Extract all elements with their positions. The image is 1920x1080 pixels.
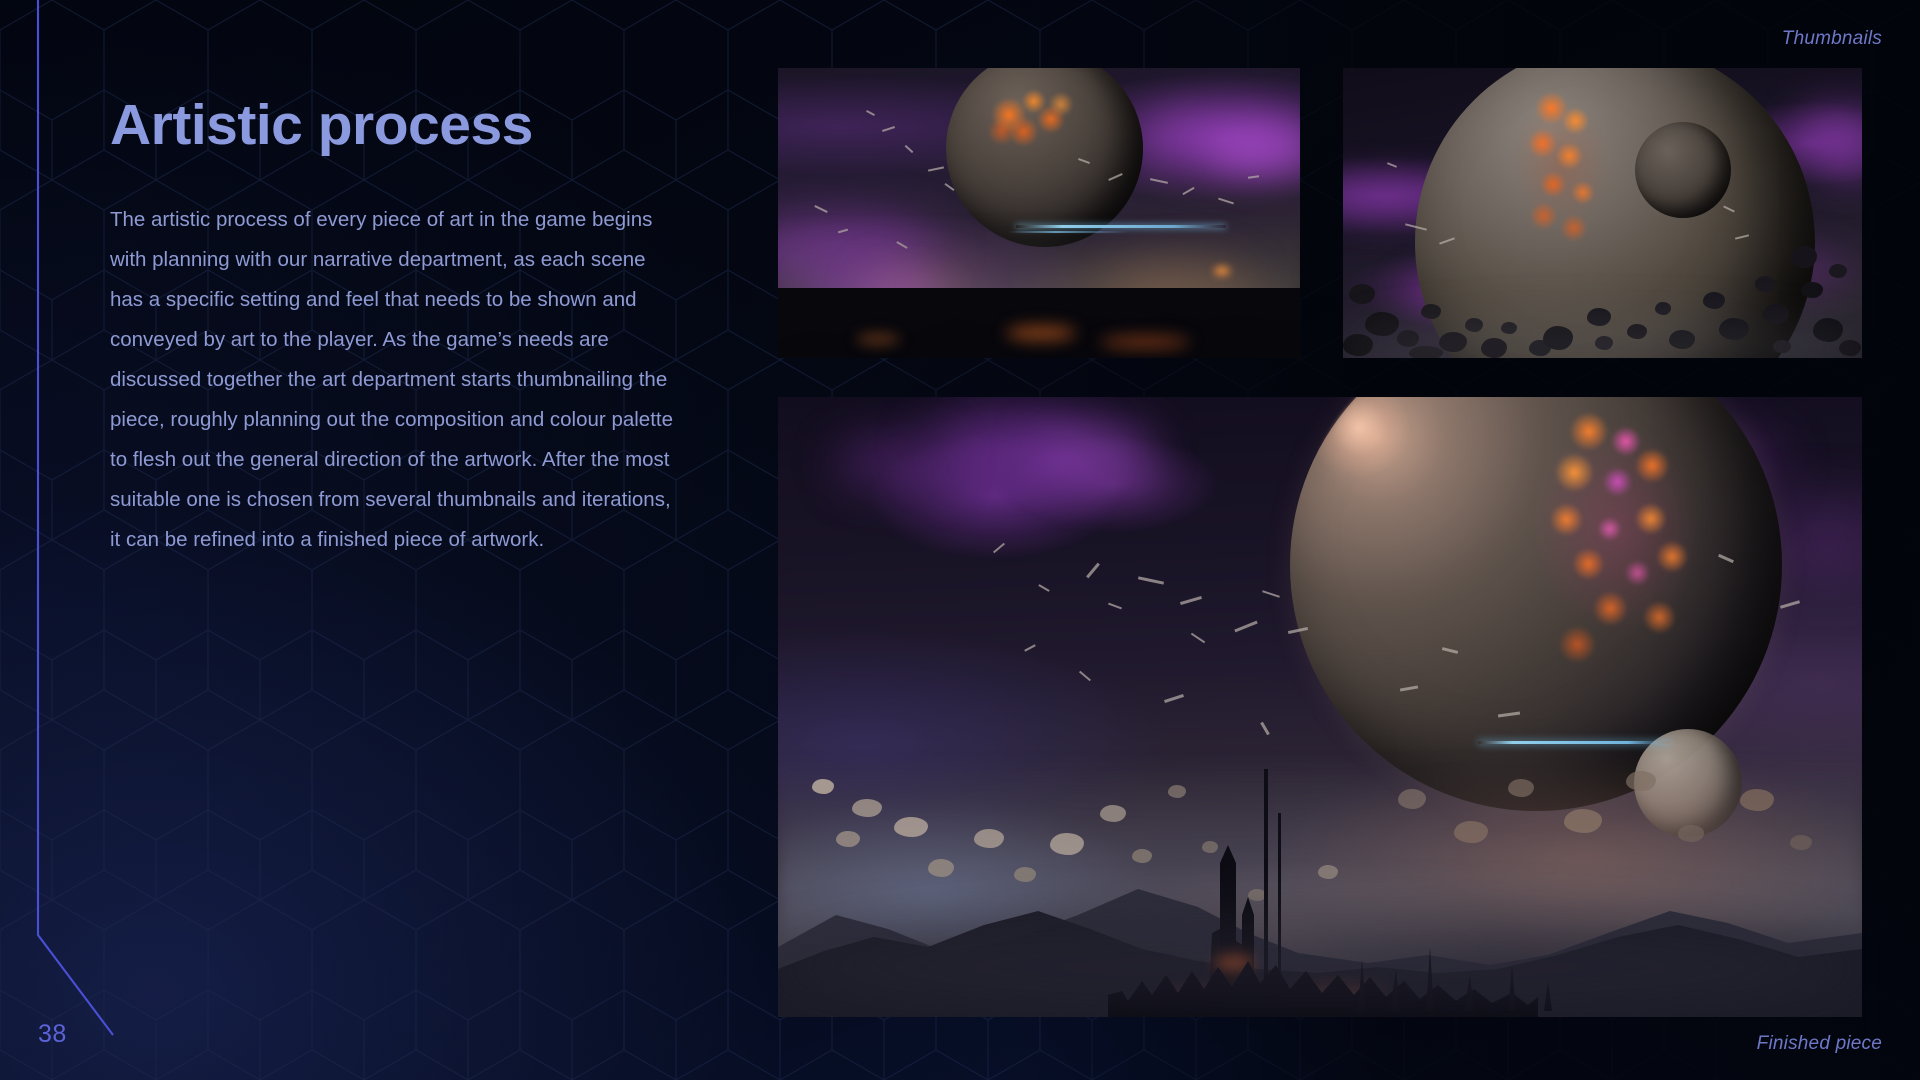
planet-lava-fissures (1464, 397, 1792, 711)
asteroid (1791, 246, 1817, 268)
floating-rock (894, 817, 928, 837)
slide-root: Artistic process The artistic process of… (0, 0, 1920, 1080)
body-paragraph: The artistic process of every piece of a… (110, 200, 675, 560)
text-column: Artistic process The artistic process of… (110, 96, 690, 560)
asteroid (1421, 304, 1441, 319)
floating-rock (1626, 771, 1656, 791)
floating-rock (1168, 785, 1186, 798)
asteroid (1829, 264, 1847, 278)
thumbnail-image-1[interactable] (778, 68, 1300, 358)
caption-finished-piece: Finished piece (1757, 1033, 1882, 1055)
page-number: 38 (38, 1020, 67, 1049)
finished-piece-image[interactable] (778, 397, 1862, 1017)
floating-rock (1398, 789, 1426, 809)
moon (1635, 122, 1731, 218)
light-beam (1016, 225, 1226, 228)
nebula-glow (838, 441, 948, 485)
lava-ground-glow (1006, 326, 1076, 340)
floating-rock (1564, 809, 1602, 833)
floating-rock (1508, 779, 1534, 797)
asteroid (1763, 304, 1789, 324)
mountain-silhouette (778, 288, 1300, 358)
floating-rock (1740, 789, 1774, 811)
asteroid (1655, 302, 1671, 315)
light-beam (1478, 741, 1670, 744)
asteroid (1801, 282, 1823, 298)
lava-ground-glow (856, 334, 900, 344)
asteroid (1703, 292, 1725, 309)
lava-ground-glow (1100, 336, 1190, 348)
ember (1214, 266, 1230, 276)
page-title: Artistic process (110, 96, 690, 156)
thumbnail-1-scene (778, 68, 1300, 358)
thumbnail-image-2[interactable] (1343, 68, 1862, 358)
light-beam-secondary (1008, 231, 1128, 233)
thumbnail-2-scene (1343, 68, 1862, 358)
planet-lava-fissures (1482, 68, 1661, 274)
ground-mist (778, 917, 1862, 1017)
asteroid (1755, 276, 1775, 292)
caption-thumbnails: Thumbnails (1782, 28, 1882, 50)
asteroid (1349, 284, 1375, 304)
floating-rock (812, 779, 834, 794)
floating-rock (1100, 805, 1126, 822)
nebula-glow (1034, 425, 1154, 477)
floating-rock (852, 799, 882, 817)
finished-piece-scene (778, 397, 1862, 1017)
